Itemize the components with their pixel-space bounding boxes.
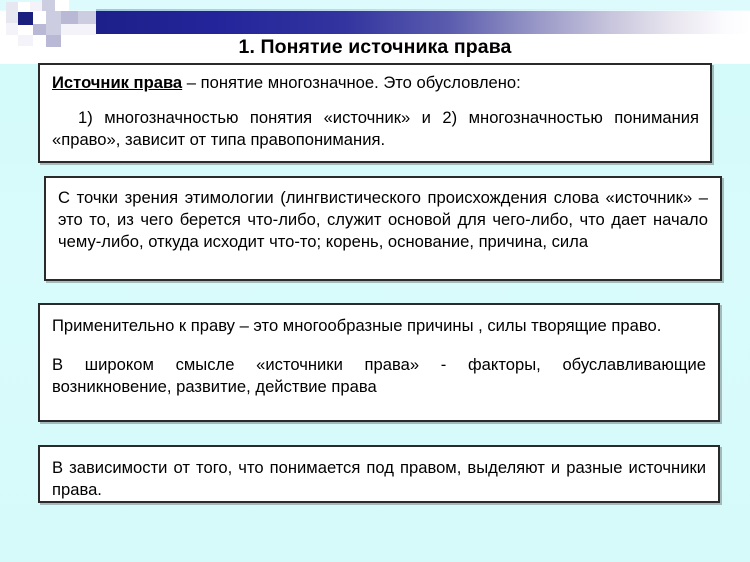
box4-paragraph: В зависимости от того, что понимается по… xyxy=(52,457,706,501)
decor-square xyxy=(55,0,69,11)
content-box-application: Применительно к праву – это многообразны… xyxy=(38,303,720,422)
decor-square xyxy=(33,11,46,24)
decor-square xyxy=(46,11,61,24)
decor-square xyxy=(18,25,33,35)
decor-square-accent xyxy=(18,12,33,25)
page-title: 1. Понятие источника права xyxy=(0,36,750,59)
box1-line-2: 1) многозначностью понятия «источник» и … xyxy=(52,107,699,151)
key-term-istochnik-prava: Источник права xyxy=(52,73,182,92)
decor-square xyxy=(61,11,78,24)
box3-paragraph-2: В широком смысле «источники права» - фак… xyxy=(52,354,706,398)
content-box-etymology: С точки зрения этимологии (лингвистическ… xyxy=(44,176,722,281)
content-box-definition: Источник права – понятие многозначное. Э… xyxy=(38,63,712,163)
decor-square xyxy=(6,11,18,23)
box2-paragraph: С точки зрения этимологии (лингвистическ… xyxy=(58,187,708,253)
box1-line-1: Источник права – понятие многозначное. Э… xyxy=(52,72,699,94)
decor-square xyxy=(78,11,96,24)
slide-canvas: 1. Понятие источника права Источник прав… xyxy=(0,0,750,562)
checkered-squares-decoration-icon xyxy=(6,2,18,11)
decor-square xyxy=(61,24,96,35)
decor-square xyxy=(33,24,46,35)
box3-paragraph-1: Применительно к праву – это многообразны… xyxy=(52,315,706,337)
decor-square xyxy=(46,24,61,35)
content-box-conclusion: В зависимости от того, что понимается по… xyxy=(38,445,720,503)
decor-square xyxy=(42,0,55,11)
decor-square xyxy=(6,23,18,35)
box1-term-suffix: – понятие многозначное. Это обусловлено: xyxy=(182,73,521,92)
gradient-header-bar-icon xyxy=(96,11,750,34)
decor-square xyxy=(30,2,42,11)
decor-square xyxy=(18,2,30,11)
